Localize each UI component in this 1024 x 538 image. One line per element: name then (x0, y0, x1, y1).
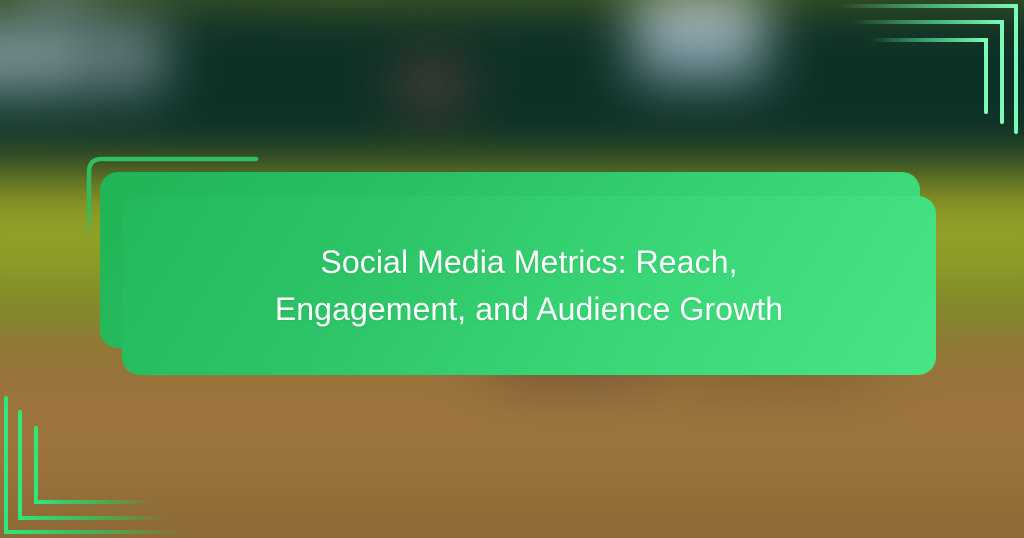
background-advert-board-left (0, 28, 160, 96)
title-card: Social Media Metrics: Reach, Engagement,… (122, 196, 936, 375)
background-advert-board-center (635, 0, 764, 84)
background-player-upper-shadow (406, 77, 463, 107)
page-title: Social Media Metrics: Reach, Engagement,… (209, 239, 849, 331)
background-advert-board-left-mark (86, 39, 124, 86)
screenshot-canvas: Social Media Metrics: Reach, Engagement,… (0, 0, 1024, 538)
